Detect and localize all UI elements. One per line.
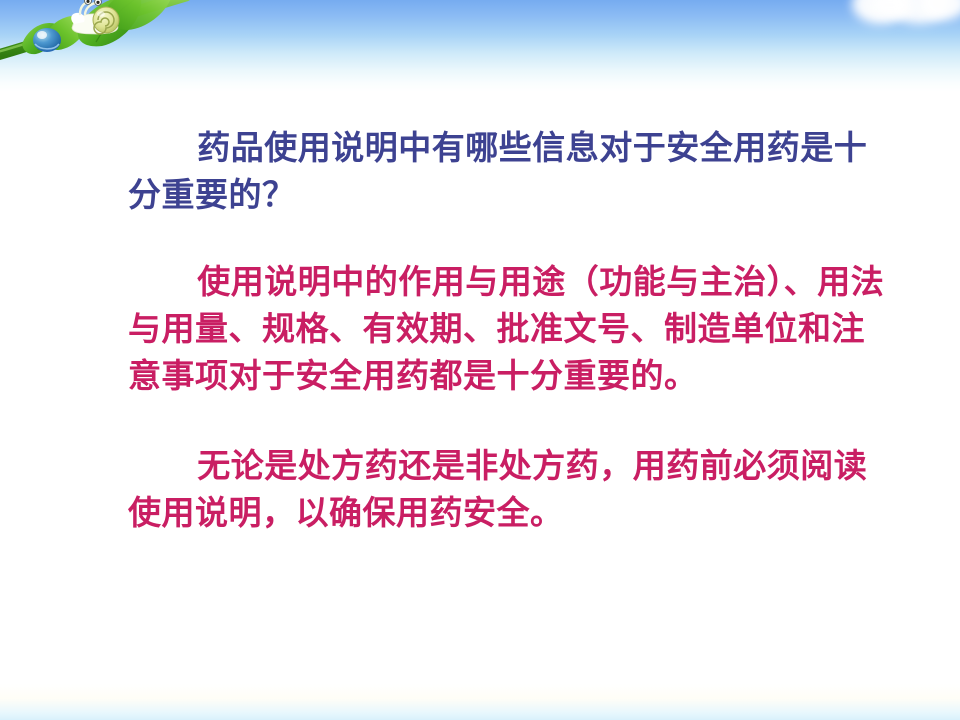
question-paragraph: 药品使用说明中有哪些信息对于安全用药是十分重要的？ bbox=[128, 126, 888, 220]
answer-paragraph-1: 使用说明中的作用与用途（功能与主治）、用法与用量、规格、有效期、批准文号、制造单… bbox=[128, 260, 888, 401]
vine-decoration bbox=[0, 0, 190, 62]
slide-text-body: 药品使用说明中有哪些信息对于安全用药是十分重要的？ 使用说明中的作用与用途（功能… bbox=[128, 126, 888, 538]
presentation-slide: 药品使用说明中有哪些信息对于安全用药是十分重要的？ 使用说明中的作用与用途（功能… bbox=[0, 0, 960, 720]
bottom-gradient-band bbox=[0, 684, 960, 720]
answer-paragraph-2: 无论是处方药还是非处方药，用药前必须阅读使用说明，以确保用药安全。 bbox=[128, 444, 888, 538]
dewdrop-icon bbox=[33, 28, 61, 52]
